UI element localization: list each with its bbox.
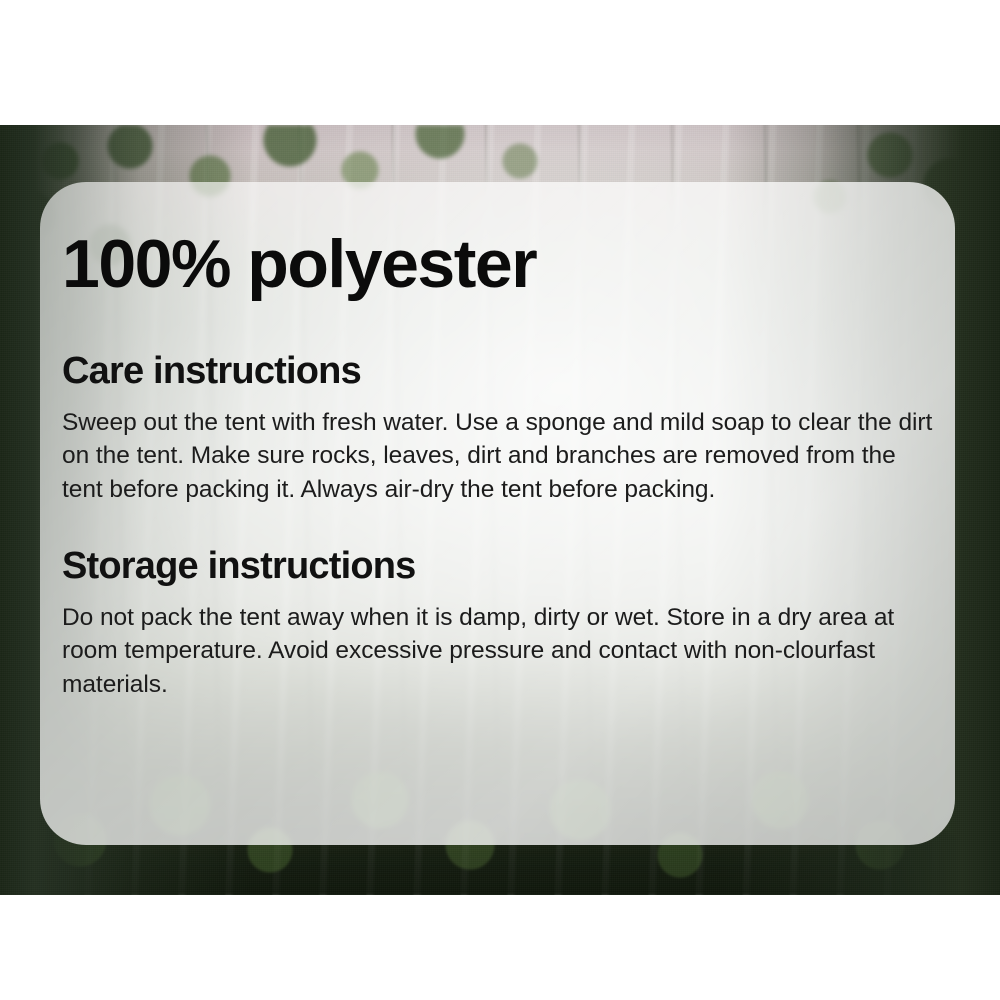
material-title: 100% polyester — [62, 230, 536, 298]
product-info-page: 100% polyester Care instructions Sweep o… — [0, 0, 1000, 1000]
info-card-content: 100% polyester Care instructions Sweep o… — [62, 182, 955, 845]
info-card: 100% polyester Care instructions Sweep o… — [40, 182, 955, 845]
storage-instructions-body: Do not pack the tent away when it is dam… — [62, 601, 942, 701]
care-instructions-heading: Care instructions — [62, 352, 942, 392]
section-care-instructions: Care instructions Sweep out the tent wit… — [62, 352, 942, 506]
care-instructions-body: Sweep out the tent with fresh water. Use… — [62, 406, 942, 506]
section-storage-instructions: Storage instructions Do not pack the ten… — [62, 547, 942, 701]
storage-instructions-heading: Storage instructions — [62, 547, 942, 587]
